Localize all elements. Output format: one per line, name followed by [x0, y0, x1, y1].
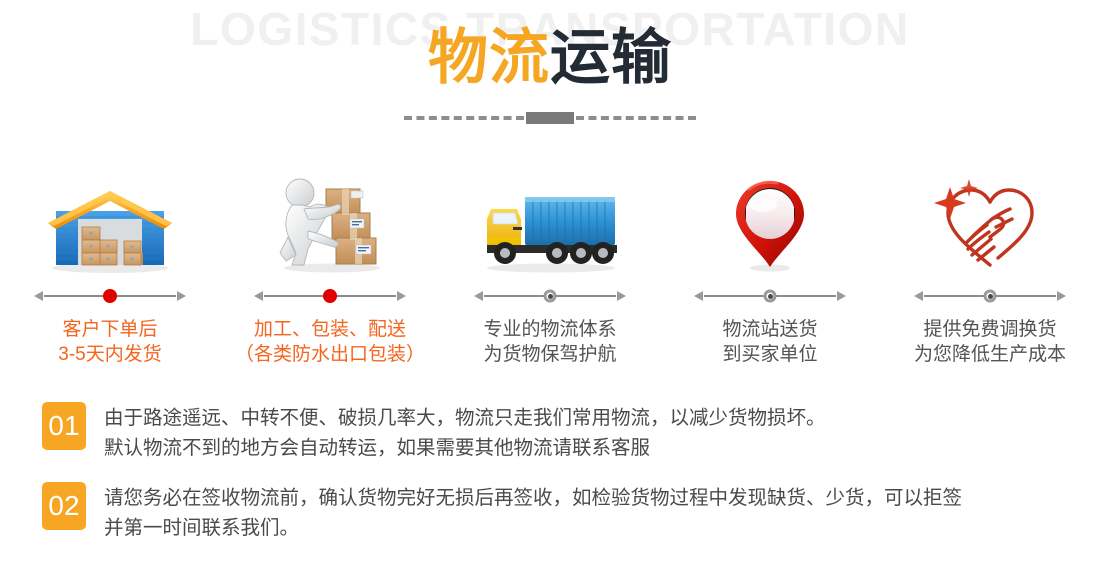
feature-item-free-exchange: 提供免费调换货 为您降低生产成本 [880, 175, 1100, 367]
rule-arrow-left-icon [254, 291, 263, 301]
feature-caption: 提供免费调换货 为您降低生产成本 [914, 317, 1066, 367]
logistics-transportation-banner: LOGISTICS TRANSPORTATION 物流运输 [0, 0, 1100, 567]
feature-caption: 物流站送货 到买家单位 [722, 317, 817, 367]
note-line: 请您务必在签收物流前，确认货物完好无损后再签收，如检验货物过程中发现缺货、少货，… [104, 483, 962, 513]
rule-arrow-left-icon [914, 291, 923, 301]
feature-caption-line: （各类防水出口包装） [235, 342, 425, 367]
rule-knob-red [103, 289, 117, 303]
rule-arrow-right-icon [837, 291, 846, 301]
feature-caption-line: 为货物保驾护航 [483, 342, 616, 367]
feature-list: 客户下单后 3-5天内发货 [0, 175, 1100, 367]
feature-item-truck: 专业的物流体系 为货物保驾护航 [440, 175, 660, 367]
rule-knob-gray [764, 290, 777, 303]
note-text: 由于路途遥远、中转不便、破损几率大，物流只走我们常用物流，以减少货物损坏。 默认… [104, 402, 826, 463]
feature-item-delivery-station: 物流站送货 到买家单位 [660, 175, 880, 367]
rule-arrow-left-icon [694, 291, 703, 301]
notes-list: 01 由于路途遥远、中转不便、破损几率大，物流只走我们常用物流，以减少货物损坏。… [42, 402, 1072, 562]
feature-caption: 客户下单后 3-5天内发货 [58, 317, 161, 367]
note-line: 由于路途遥远、中转不便、破损几率大，物流只走我们常用物流，以减少货物损坏。 [104, 403, 826, 433]
warehouse-icon [42, 175, 178, 273]
title-divider [0, 112, 1100, 124]
step-rule-5 [914, 285, 1066, 307]
note-badge: 02 [42, 482, 86, 530]
rule-arrow-left-icon [474, 291, 483, 301]
step-rule-4 [694, 285, 846, 307]
feature-caption-line: 加工、包装、配送 [235, 317, 425, 342]
note-line: 并第一时间联系我们。 [104, 513, 962, 543]
rule-knob-gray [544, 290, 557, 303]
header: LOGISTICS TRANSPORTATION 物流运输 [0, 0, 1100, 140]
page-title: 物流运输 [0, 22, 1100, 94]
container-truck-icon [477, 175, 623, 273]
rule-arrow-right-icon [397, 291, 406, 301]
divider-dash-left [404, 116, 524, 120]
note-text: 请您务必在签收物流前，确认货物完好无损后再签收，如检验货物过程中发现缺货、少货，… [104, 482, 962, 543]
feature-caption-line: 客户下单后 [58, 317, 161, 342]
note-item: 02 请您务必在签收物流前，确认货物完好无损后再签收，如检验货物过程中发现缺货、… [42, 482, 1072, 543]
handshake-heart-icon [932, 175, 1048, 273]
rule-arrow-right-icon [617, 291, 626, 301]
note-item: 01 由于路途遥远、中转不便、破损几率大，物流只走我们常用物流，以减少货物损坏。… [42, 402, 1072, 463]
rule-arrow-right-icon [177, 291, 186, 301]
worker-packing-boxes-icon [270, 175, 390, 273]
divider-dash-right [576, 116, 696, 120]
rule-arrow-left-icon [34, 291, 43, 301]
feature-caption: 加工、包装、配送 （各类防水出口包装） [235, 317, 425, 367]
feature-caption-line: 到买家单位 [722, 342, 817, 367]
feature-item-packing: 加工、包装、配送 （各类防水出口包装） [220, 175, 440, 367]
feature-caption-line: 提供免费调换货 [914, 317, 1066, 342]
step-rule-3 [474, 285, 626, 307]
feature-caption-line: 3-5天内发货 [58, 342, 161, 367]
feature-caption: 专业的物流体系 为货物保驾护航 [483, 317, 616, 367]
page-title-orange: 物流 [428, 24, 550, 91]
rule-knob-red [323, 289, 337, 303]
step-rule-2 [254, 285, 406, 307]
step-rule-1 [34, 285, 186, 307]
divider-block [526, 112, 574, 124]
feature-item-warehouse: 客户下单后 3-5天内发货 [0, 175, 220, 367]
rule-knob-gray [984, 290, 997, 303]
map-pin-icon [727, 175, 813, 273]
rule-arrow-right-icon [1057, 291, 1066, 301]
feature-caption-line: 专业的物流体系 [483, 317, 616, 342]
feature-caption-line: 物流站送货 [722, 317, 817, 342]
note-badge: 01 [42, 402, 86, 450]
feature-caption-line: 为您降低生产成本 [914, 342, 1066, 367]
note-line: 默认物流不到的地方会自动转运，如果需要其他物流请联系客服 [104, 433, 826, 463]
page-title-dark: 运输 [550, 24, 672, 91]
